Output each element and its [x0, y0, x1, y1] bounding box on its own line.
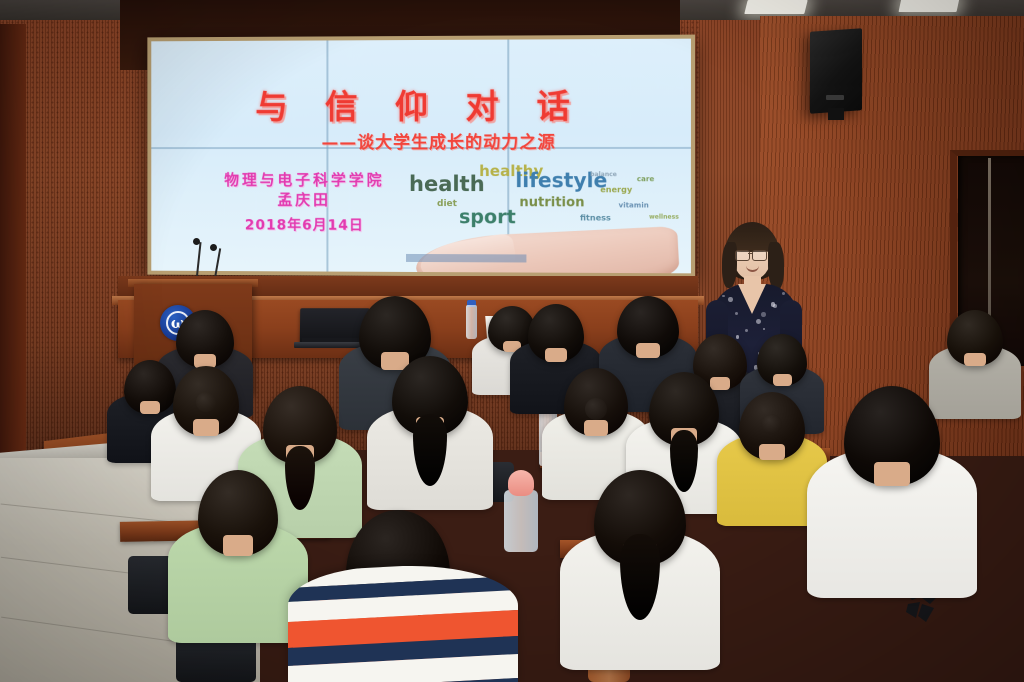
audience-hair-bun	[196, 392, 216, 412]
audience-neck	[710, 377, 731, 390]
lecture-hall-photo: 与 信 仰 对 话 ——谈大学生成长的动力之源 物理与电子科学学院 孟庆田 20…	[0, 0, 1024, 682]
audience-water-bottle[interactable]	[504, 490, 538, 552]
audience-hair-bun	[762, 414, 782, 434]
audience-neck	[584, 420, 608, 436]
audience-neck	[545, 348, 566, 362]
audience-neck	[773, 374, 792, 386]
striped-shirt-student	[288, 566, 518, 682]
audience-hair-bun	[585, 398, 607, 420]
audience-neck	[140, 401, 160, 414]
audience-neck	[964, 353, 985, 366]
bottle-cap-pink	[508, 470, 534, 496]
audience-neck	[636, 343, 660, 358]
audience-neck	[874, 462, 910, 486]
audience-neck	[759, 444, 784, 460]
audience-neck	[193, 419, 218, 436]
audience-neck	[223, 535, 253, 556]
